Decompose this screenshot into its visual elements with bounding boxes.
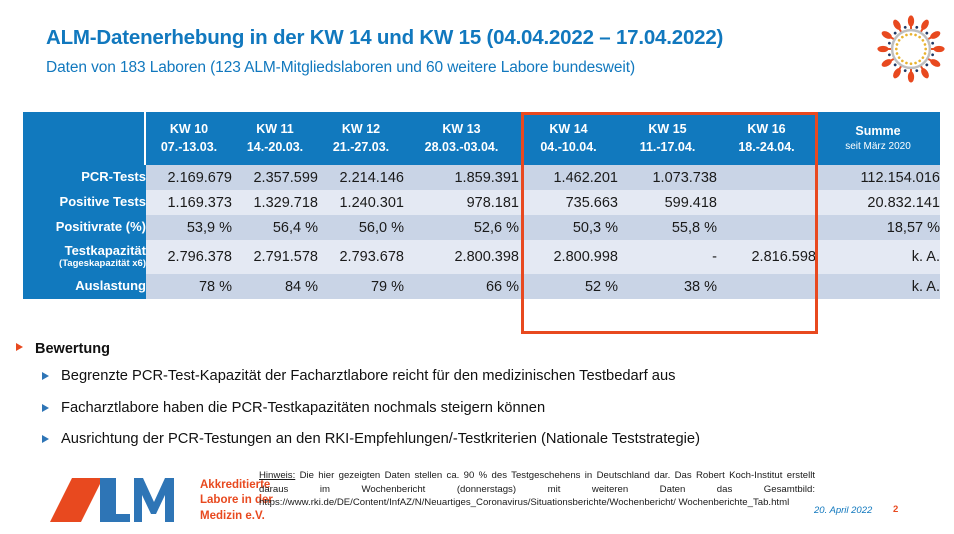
alm-logo-mark (48, 478, 196, 522)
cell-ausl-kw13: 66 % (404, 274, 519, 299)
row-label-sub: (Tageskapazität x6) (23, 259, 146, 270)
bullet-list: Bewertung Begrenzte PCR-Test-Kapazität d… (14, 341, 944, 463)
cell-rate-kw10: 53,9 % (146, 215, 232, 240)
footnote: Hinweis: Die hier gezeigten Daten stelle… (259, 469, 815, 510)
row-label-auslastung: Auslastung (23, 274, 146, 299)
cell-kap-kw16: 2.816.598 (717, 240, 816, 274)
alm-logo-line3: Medizin e.V. (200, 509, 273, 524)
column-week-label: KW 16 (717, 121, 816, 138)
cell-pcr-kw16 (717, 165, 816, 190)
cell-pcr-summe: 112.154.016 (816, 165, 940, 190)
table-row-testkapazitaet: Testkapazität (Tageskapazität x6) 2.796.… (23, 240, 940, 274)
row-label-main: Testkapazität (65, 243, 146, 258)
page-subtitle: Daten von 183 Laboren (123 ALM-Mitglieds… (46, 59, 635, 77)
footnote-text: Die hier gezeigten Daten stellen ca. 90 … (259, 470, 815, 508)
triangle-bullet-icon (42, 435, 49, 443)
cell-pcr-kw12: 2.214.146 (318, 165, 404, 190)
column-header-kw11: KW 11 14.-20.03. (232, 112, 318, 165)
cell-pos-kw11: 1.329.718 (232, 190, 318, 215)
cell-pos-summe: 20.832.141 (816, 190, 940, 215)
column-range-label: 04.-10.04. (519, 139, 618, 156)
cell-pos-kw15: 599.418 (618, 190, 717, 215)
column-header-kw10: KW 10 07.-13.03. (146, 112, 232, 165)
table-row-pcr-tests: PCR-Tests 2.169.679 2.357.599 2.214.146 … (23, 165, 940, 190)
cell-pcr-kw10: 2.169.679 (146, 165, 232, 190)
column-header-kw12: KW 12 21.-27.03. (318, 112, 404, 165)
bullet-heading-label: Bewertung (35, 341, 110, 357)
cell-rate-summe: 18,57 % (816, 215, 940, 240)
footer-page-number: 2 (893, 504, 898, 515)
cell-pcr-kw11: 2.357.599 (232, 165, 318, 190)
triangle-bullet-icon (42, 404, 49, 412)
table-row-positive-tests: Positive Tests 1.169.373 1.329.718 1.240… (23, 190, 940, 215)
cell-pcr-kw14: 1.462.201 (519, 165, 618, 190)
cell-pcr-kw13: 1.859.391 (404, 165, 519, 190)
cell-kap-kw14: 2.800.998 (519, 240, 618, 274)
column-week-label: KW 12 (318, 121, 404, 138)
cell-pos-kw12: 1.240.301 (318, 190, 404, 215)
column-week-label: Summe (816, 123, 940, 140)
cell-pcr-kw15: 1.073.738 (618, 165, 717, 190)
cell-pos-kw16 (717, 190, 816, 215)
cell-kap-kw12: 2.793.678 (318, 240, 404, 274)
column-header-kw16: KW 16 18.-24.04. (717, 112, 816, 165)
column-header-kw15: KW 15 11.-17.04. (618, 112, 717, 165)
cell-rate-kw15: 55,8 % (618, 215, 717, 240)
column-week-label: KW 15 (618, 121, 717, 138)
column-header-kw14: KW 14 04.-10.04. (519, 112, 618, 165)
alm-logo: Akkreditierte Labore in der Medizin e.V. (48, 478, 253, 524)
column-range-label: 07.-13.03. (146, 139, 232, 156)
cell-kap-kw11: 2.791.578 (232, 240, 318, 274)
footnote-label: Hinweis: (259, 470, 295, 481)
footer-date: 20. April 2022 (814, 505, 872, 516)
cell-ausl-summe: k. A. (816, 274, 940, 299)
column-header-summe: Summe seit März 2020 (816, 112, 940, 165)
cell-kap-kw13: 2.800.398 (404, 240, 519, 274)
cell-kap-kw15: - (618, 240, 717, 274)
slide-root: ALM-Datenerhebung in der KW 14 und KW 15… (0, 0, 954, 534)
table-header-row: KW 10 07.-13.03. KW 11 14.-20.03. KW 12 … (23, 112, 940, 165)
cell-ausl-kw15: 38 % (618, 274, 717, 299)
alm-data-table: KW 10 07.-13.03. KW 11 14.-20.03. KW 12 … (23, 112, 940, 299)
cell-pos-kw13: 978.181 (404, 190, 519, 215)
table-row-positivrate: Positivrate (%) 53,9 % 56,4 % 56,0 % 52,… (23, 215, 940, 240)
row-label-testkapazitaet: Testkapazität (Tageskapazität x6) (23, 240, 146, 274)
column-range-label: 18.-24.04. (717, 139, 816, 156)
cell-rate-kw16 (717, 215, 816, 240)
bullet-item-label: Ausrichtung der PCR-Testungen an den RKI… (61, 431, 700, 447)
bullet-item-label: Facharztlabore haben die PCR-Testkapazit… (61, 400, 545, 416)
cell-rate-kw11: 56,4 % (232, 215, 318, 240)
cell-kap-kw10: 2.796.378 (146, 240, 232, 274)
cell-ausl-kw11: 84 % (232, 274, 318, 299)
bullet-item-1: Begrenzte PCR-Test-Kapazität der Facharz… (14, 368, 944, 386)
cell-rate-kw14: 50,3 % (519, 215, 618, 240)
column-week-label: KW 11 (232, 121, 318, 138)
triangle-bullet-icon (16, 343, 23, 351)
bullet-heading-bewertung: Bewertung (14, 341, 944, 357)
cell-pos-kw14: 735.663 (519, 190, 618, 215)
column-week-label: KW 10 (146, 121, 232, 138)
column-range-label: 28.03.-03.04. (404, 139, 519, 156)
table-corner-cell (23, 112, 146, 165)
bullet-item-3: Ausrichtung der PCR-Testungen an den RKI… (14, 431, 944, 449)
column-header-kw13: KW 13 28.03.-03.04. (404, 112, 519, 165)
column-range-label: 11.-17.04. (618, 139, 717, 156)
column-range-label: 14.-20.03. (232, 139, 318, 156)
cell-rate-kw12: 56,0 % (318, 215, 404, 240)
cell-ausl-kw14: 52 % (519, 274, 618, 299)
bullet-item-label: Begrenzte PCR-Test-Kapazität der Facharz… (61, 368, 675, 384)
column-week-label: KW 13 (404, 121, 519, 138)
cell-rate-kw13: 52,6 % (404, 215, 519, 240)
cell-kap-summe: k. A. (816, 240, 940, 274)
cell-ausl-kw12: 79 % (318, 274, 404, 299)
page-title: ALM-Datenerhebung in der KW 14 und KW 15… (46, 26, 723, 50)
column-week-label: KW 14 (519, 121, 618, 138)
cell-ausl-kw10: 78 % (146, 274, 232, 299)
triangle-bullet-icon (42, 372, 49, 380)
coronavirus-icon (876, 14, 946, 84)
row-label-pcr-tests: PCR-Tests (23, 165, 146, 190)
cell-pos-kw10: 1.169.373 (146, 190, 232, 215)
column-range-label: 21.-27.03. (318, 139, 404, 156)
bullet-item-2: Facharztlabore haben die PCR-Testkapazit… (14, 400, 944, 418)
cell-ausl-kw16 (717, 274, 816, 299)
table-row-auslastung: Auslastung 78 % 84 % 79 % 66 % 52 % 38 %… (23, 274, 940, 299)
row-label-positive-tests: Positive Tests (23, 190, 146, 215)
column-range-label: seit März 2020 (816, 140, 940, 154)
row-label-positivrate: Positivrate (%) (23, 215, 146, 240)
